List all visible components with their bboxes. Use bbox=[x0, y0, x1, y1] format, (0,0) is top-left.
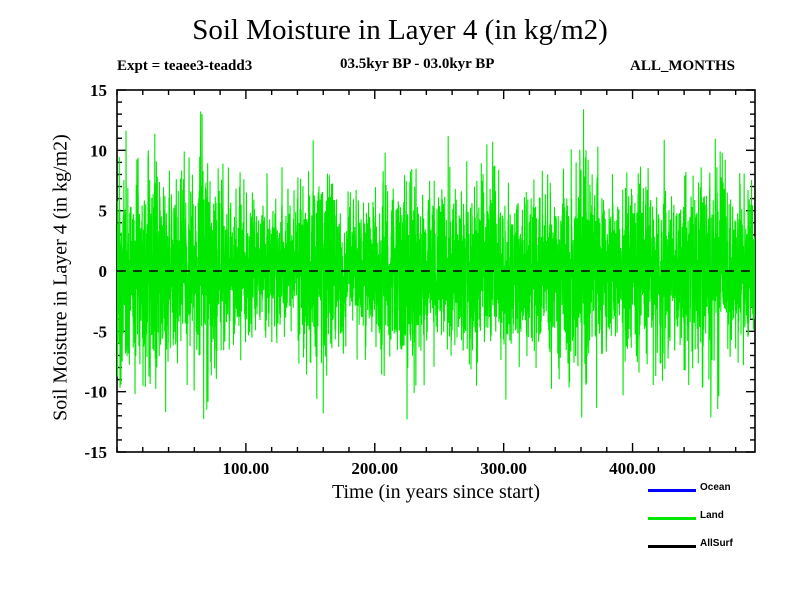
y-tick-label: -10 bbox=[84, 383, 107, 402]
y-tick-label: 5 bbox=[99, 202, 108, 221]
legend-label-allsurf: AllSurf bbox=[700, 538, 733, 549]
legend-item-land[interactable]: Land bbox=[648, 506, 798, 534]
legend-label-ocean: Ocean bbox=[700, 482, 731, 493]
legend: OceanLandAllSurf bbox=[648, 478, 798, 562]
y-tick-label: 10 bbox=[90, 141, 107, 160]
y-tick-label: -5 bbox=[93, 322, 107, 341]
legend-item-ocean[interactable]: Ocean bbox=[648, 478, 798, 506]
x-tick-label: 400.00 bbox=[609, 459, 656, 478]
x-tick-label: 200.00 bbox=[351, 459, 398, 478]
x-tick-label: 300.00 bbox=[480, 459, 527, 478]
chart-page: Soil Moisture in Layer 4 (in kg/m2) Expt… bbox=[0, 0, 800, 600]
legend-swatch-allsurf bbox=[648, 545, 696, 548]
y-tick-label: 15 bbox=[90, 81, 107, 100]
y-tick-label: -15 bbox=[84, 443, 107, 462]
x-tick-label: 100.00 bbox=[223, 459, 270, 478]
legend-swatch-ocean bbox=[648, 489, 696, 492]
legend-label-land: Land bbox=[700, 510, 724, 521]
series-line-land bbox=[117, 109, 755, 419]
y-axis-title: Soil Moisture in Layer 4 (in kg/m2) bbox=[50, 93, 73, 463]
legend-item-allsurf[interactable]: AllSurf bbox=[648, 534, 798, 562]
y-tick-label: 0 bbox=[99, 262, 108, 281]
legend-swatch-land bbox=[648, 517, 696, 520]
